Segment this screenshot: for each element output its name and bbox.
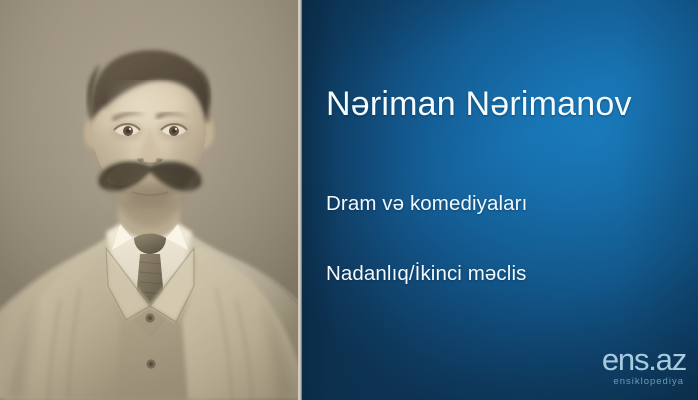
site-logo[interactable]: ens.az ensiklopediya bbox=[602, 344, 686, 387]
portrait-photo-image bbox=[0, 0, 298, 400]
subtitle-line-2: Nadanlıq/İkinci məclis bbox=[326, 262, 526, 287]
logo-tagline: ensiklopediya bbox=[602, 377, 684, 387]
banner: Nəriman Nərimanov Dram və komediyaları N… bbox=[0, 0, 698, 400]
page-title: Nəriman Nərimanov bbox=[326, 86, 632, 123]
subtitle-line-1: Dram və komediyaları bbox=[326, 192, 527, 217]
portrait-photo bbox=[0, 0, 298, 400]
logo-wordmark: ens.az bbox=[602, 344, 686, 375]
panel-content: Nəriman Nərimanov Dram və komediyaları N… bbox=[302, 0, 698, 400]
info-panel: Nəriman Nərimanov Dram və komediyaları N… bbox=[302, 0, 698, 400]
